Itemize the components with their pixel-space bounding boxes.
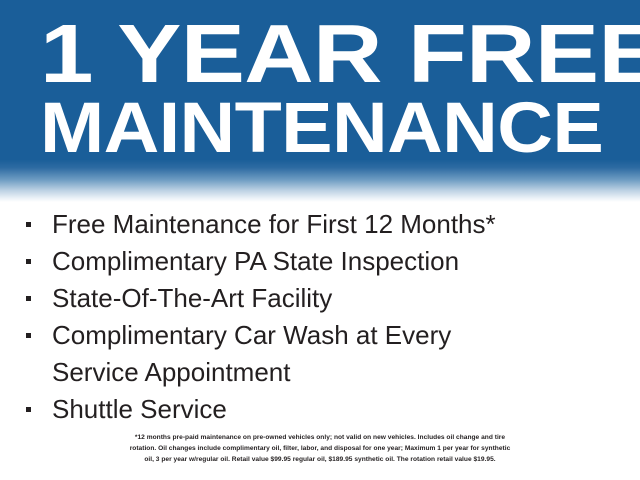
- benefit-label: Service Appointment: [52, 357, 290, 387]
- square-bullet-icon: [26, 333, 31, 338]
- list-item: State-Of-The-Art Facility: [0, 280, 640, 317]
- banner-header: 1 YEAR FREE MAINTENANCE: [0, 0, 640, 202]
- headline-line-1: 1 YEAR FREE: [40, 16, 640, 92]
- headline: 1 YEAR FREE MAINTENANCE: [40, 16, 624, 154]
- list-item-continuation: Service Appointment: [0, 354, 640, 391]
- benefit-label: Free Maintenance for First 12 Months*: [52, 209, 496, 239]
- maintenance-offer-ad: 1 YEAR FREE MAINTENANCE Free Maintenance…: [0, 0, 640, 480]
- square-bullet-icon: [26, 407, 31, 412]
- benefits-list: Free Maintenance for First 12 Months* Co…: [0, 206, 640, 428]
- benefit-label: Complimentary PA State Inspection: [52, 246, 459, 276]
- benefit-label: Shuttle Service: [52, 394, 227, 424]
- headline-line-2: MAINTENANCE: [40, 95, 640, 161]
- disclaimer-line-2: rotation. Oil changes include compliment…: [24, 443, 616, 454]
- list-item: Complimentary PA State Inspection: [0, 243, 640, 280]
- benefit-label: Complimentary Car Wash at Every: [52, 320, 451, 350]
- list-item: Shuttle Service: [0, 391, 640, 428]
- disclaimer-fine-print: *12 months pre-paid maintenance on pre-o…: [24, 432, 616, 466]
- list-item: Complimentary Car Wash at Every: [0, 317, 640, 354]
- disclaimer-line-1: *12 months pre-paid maintenance on pre-o…: [24, 432, 616, 443]
- square-bullet-icon: [26, 222, 31, 227]
- benefit-label: State-Of-The-Art Facility: [52, 283, 332, 313]
- list-item: Free Maintenance for First 12 Months*: [0, 206, 640, 243]
- disclaimer-line-3: oil, 3 per year w/regular oil. Retail va…: [24, 454, 616, 465]
- square-bullet-icon: [26, 259, 31, 264]
- square-bullet-icon: [26, 296, 31, 301]
